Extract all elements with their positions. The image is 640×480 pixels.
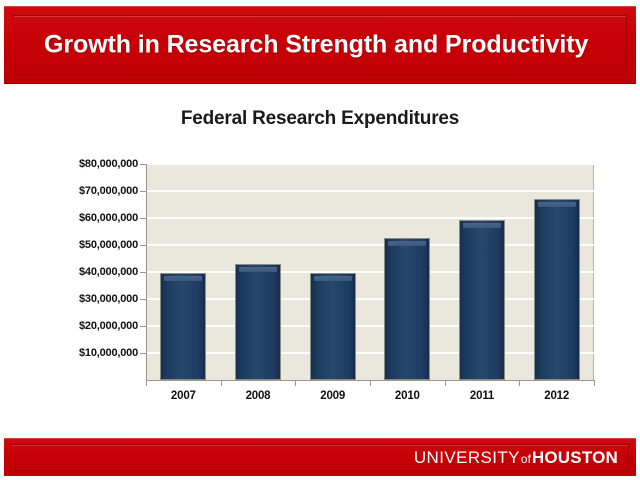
gridline: [146, 298, 594, 300]
x-axis-label: 2007: [146, 390, 220, 402]
y-axis-tick: [140, 245, 146, 246]
title-banner: Growth in Research Strength and Producti…: [4, 6, 636, 84]
y-axis-tick: [140, 353, 146, 354]
bar-highlight: [164, 276, 202, 281]
y-axis-tick: [140, 191, 146, 192]
y-axis-label: $20,000,000: [42, 320, 138, 332]
y-axis-tick: [140, 326, 146, 327]
y-axis-tick: [140, 299, 146, 300]
bar: [534, 199, 580, 380]
y-axis-labels: $10,000,000$20,000,000$30,000,000$40,000…: [34, 92, 138, 422]
y-axis-label: $40,000,000: [42, 266, 138, 278]
y-axis-tick: [140, 218, 146, 219]
logo-word-houston: HOUSTON: [532, 448, 618, 467]
x-axis-label: 2010: [370, 390, 444, 402]
gridline: [146, 244, 594, 246]
x-axis-label: 2012: [520, 390, 594, 402]
y-axis-label: $60,000,000: [42, 212, 138, 224]
bar: [384, 238, 430, 380]
footer-banner: UNIVERSITYofHOUSTON: [4, 438, 636, 476]
chart: Federal Research Expenditures $10,000,00…: [0, 92, 640, 422]
gridline: [146, 352, 594, 354]
gridline: [146, 190, 594, 192]
bar-highlight: [314, 276, 352, 281]
plot-area: [146, 164, 594, 380]
y-axis-tick: [140, 272, 146, 273]
bar: [235, 264, 281, 380]
bar: [310, 273, 356, 380]
y-axis-label: $70,000,000: [42, 185, 138, 197]
bar-highlight: [538, 202, 576, 207]
y-axis-line: [146, 164, 147, 381]
x-axis-label: 2011: [445, 390, 519, 402]
gridline: [146, 163, 594, 165]
bar-highlight: [463, 223, 501, 228]
gridline: [146, 217, 594, 219]
x-axis-tick: [221, 381, 222, 386]
x-axis-tick: [445, 381, 446, 386]
y-axis-label: $10,000,000: [42, 347, 138, 359]
bar: [160, 273, 206, 380]
gridline: [146, 325, 594, 327]
x-axis-tick: [146, 381, 147, 386]
y-axis-label: $80,000,000: [42, 158, 138, 170]
x-axis-label: 2009: [296, 390, 370, 402]
y-axis-label: $50,000,000: [42, 239, 138, 251]
slide: Growth in Research Strength and Producti…: [0, 0, 640, 480]
x-axis-tick: [594, 381, 595, 386]
logo-word-of: of: [520, 452, 532, 466]
x-axis-label: 2008: [221, 390, 295, 402]
bar: [459, 220, 505, 380]
bar-highlight: [239, 267, 277, 272]
bar-highlight: [388, 241, 426, 246]
x-axis-tick: [295, 381, 296, 386]
logo-word-university: UNIVERSITY: [414, 448, 520, 467]
gridline: [146, 271, 594, 273]
y-axis-tick: [140, 164, 146, 165]
x-axis-tick: [519, 381, 520, 386]
y-axis-label: $30,000,000: [42, 293, 138, 305]
slide-title: Growth in Research Strength and Producti…: [44, 31, 588, 60]
university-of-houston-logo: UNIVERSITYofHOUSTON: [414, 448, 618, 468]
x-axis-tick: [370, 381, 371, 386]
